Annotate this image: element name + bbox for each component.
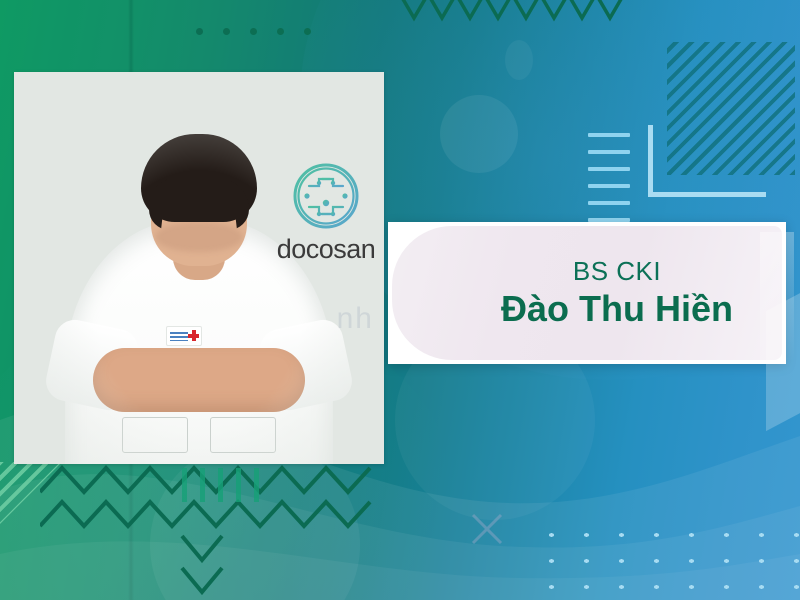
top-dot-row [196, 28, 311, 35]
brand-logo: docosan [266, 160, 384, 270]
tick [200, 468, 205, 502]
crossed-arms [93, 348, 305, 412]
decor-ellipse-small [505, 40, 533, 80]
tick [218, 468, 223, 502]
credential-label: BS CKI [573, 257, 661, 286]
coat-pocket-right [210, 417, 276, 453]
face-shadow [155, 222, 243, 252]
doctor-name: Đào Thu Hiền [501, 288, 733, 329]
zigzag-top [400, 0, 630, 28]
decor-circle-1 [440, 95, 518, 173]
nameplate: BS CKI Đào Thu Hiền [392, 226, 782, 360]
hospital-badge [166, 326, 202, 346]
double-chevron-down-icon [178, 530, 226, 600]
poster-canvas: BS CKI Đào Thu Hiền nh [0, 0, 800, 600]
tick [236, 468, 241, 502]
tick [254, 468, 259, 502]
doctor-photo-card: nh [14, 72, 384, 464]
dot [277, 28, 284, 35]
corner-bracket-icon [648, 125, 766, 197]
docosan-emblem-icon [266, 160, 384, 234]
dot [223, 28, 230, 35]
dash-stack [588, 133, 630, 235]
tick [182, 468, 187, 502]
dot [250, 28, 257, 35]
dot [196, 28, 203, 35]
brand-wordmark: docosan [266, 234, 384, 265]
dash [588, 133, 630, 137]
dash [588, 184, 630, 188]
tick-marks [182, 468, 259, 502]
coat-pocket-left [122, 417, 188, 453]
dash [588, 201, 630, 205]
dot [304, 28, 311, 35]
hair [141, 134, 257, 222]
x-mark-icon [470, 512, 504, 546]
dot-grid-bottom-right [534, 522, 800, 600]
dash [588, 167, 630, 171]
dash [588, 150, 630, 154]
photo-watermark-text: nh [337, 302, 374, 336]
